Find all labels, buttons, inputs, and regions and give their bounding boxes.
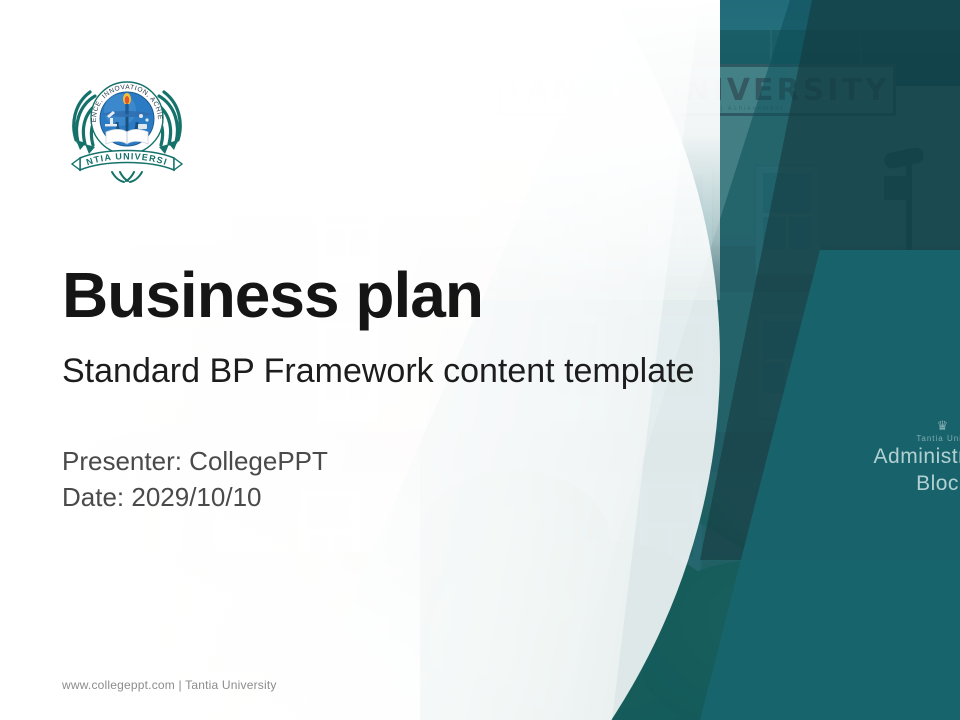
footer-credit: www.collegeppt.com | Tantia University bbox=[62, 678, 277, 692]
date-line: Date: 2029/10/10 bbox=[62, 482, 262, 513]
slide-title: Business plan bbox=[62, 258, 483, 332]
presenter-line: Presenter: CollegePPT bbox=[62, 446, 328, 477]
tantia-university-logo: EXCELLENCE, INNOVATION, ACHIEVEMENT bbox=[62, 66, 192, 184]
slide-subtitle: Standard BP Framework content template bbox=[62, 352, 694, 391]
presentation-title-slide: TANTIA UNIVERSITY Excellence | Innovatio… bbox=[0, 0, 960, 720]
white-veil-bottom-left bbox=[0, 390, 420, 720]
